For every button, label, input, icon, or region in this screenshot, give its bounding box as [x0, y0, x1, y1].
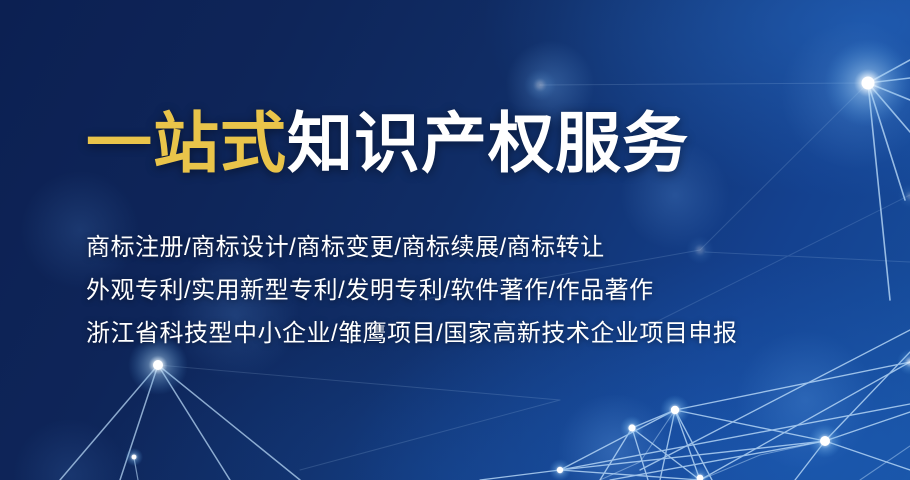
headline-rest: 知识产权服务 — [287, 106, 689, 180]
headline-highlight: 一站式 — [86, 106, 287, 180]
service-line: 外观专利/实用新型专利/发明专利/软件著作/作品著作 — [86, 269, 737, 312]
page-title: 一站式知识产权服务 — [86, 110, 689, 176]
service-list: 商标注册/商标设计/商标变更/商标续展/商标转让 外观专利/实用新型专利/发明专… — [86, 226, 737, 355]
service-line: 商标注册/商标设计/商标变更/商标续展/商标转让 — [86, 226, 737, 269]
banner-content: 一站式知识产权服务 商标注册/商标设计/商标变更/商标续展/商标转让 外观专利/… — [0, 0, 910, 480]
promo-banner: 一站式知识产权服务 商标注册/商标设计/商标变更/商标续展/商标转让 外观专利/… — [0, 0, 910, 480]
service-line: 浙江省科技型中小企业/雏鹰项目/国家高新技术企业项目申报 — [86, 312, 737, 355]
